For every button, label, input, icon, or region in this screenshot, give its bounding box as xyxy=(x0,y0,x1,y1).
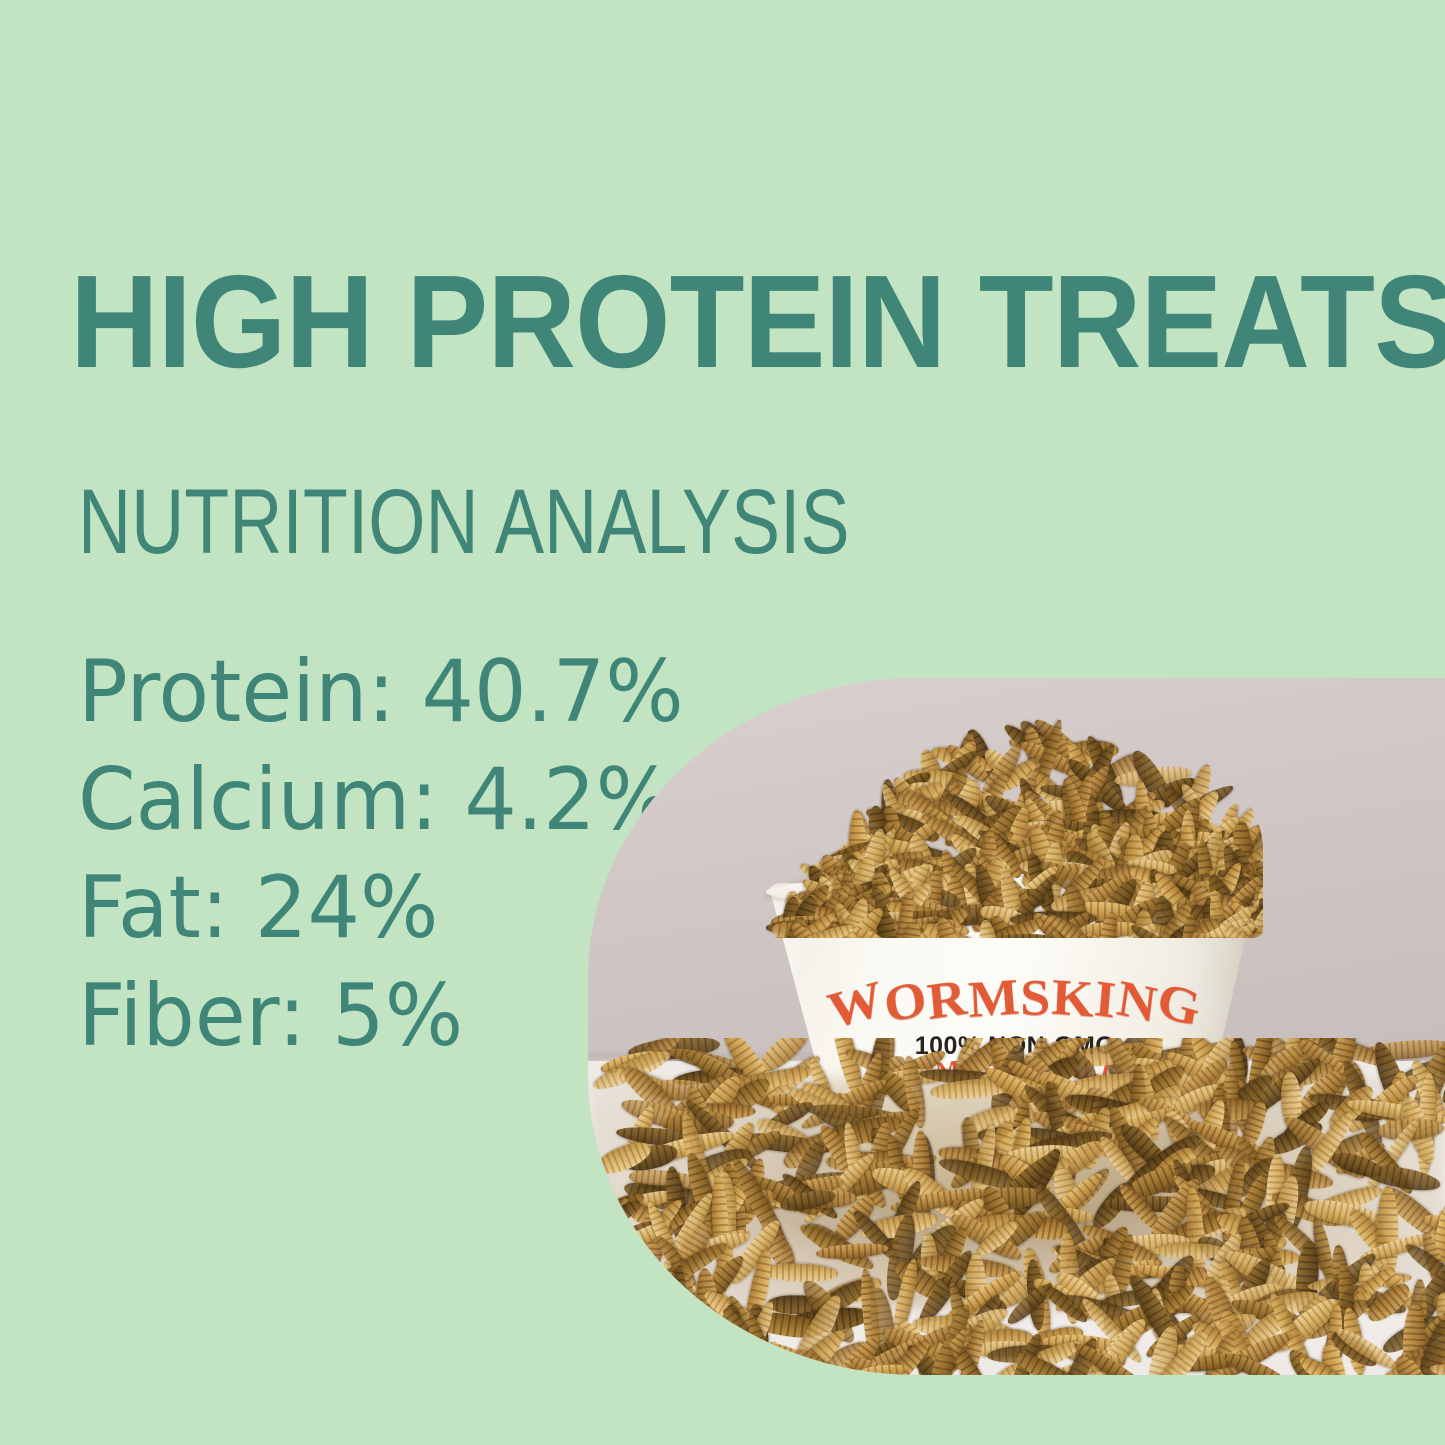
product-photo: WORMSKING 100% NON-GMO PREMIUM QUALITY xyxy=(588,678,1445,1375)
page-title: HIGH PROTEIN TREATS xyxy=(70,256,1316,388)
nutrition-item-protein: Protein: 40.7% xyxy=(78,638,673,746)
larvae-scatter xyxy=(588,1038,1445,1375)
nutrition-item-calcium: Calcium: 4.2% xyxy=(78,746,673,854)
nutrition-item-fat: Fat: 24% xyxy=(78,854,673,962)
nutrition-item-fiber: Fiber: 5% xyxy=(78,962,673,1070)
product-infographic: HIGH PROTEIN TREATS NUTRITION ANALYSIS P… xyxy=(0,0,1445,1445)
page-subtitle: NUTRITION ANALYSIS xyxy=(78,476,850,568)
